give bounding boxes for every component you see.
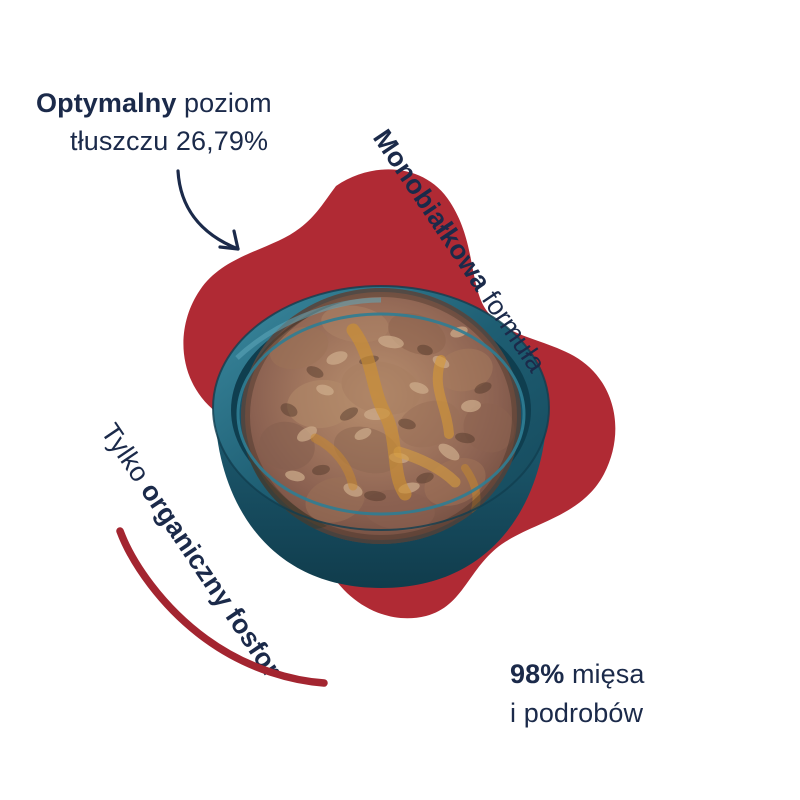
callout-fat-rest: poziom — [176, 88, 271, 118]
callout-meat-line2: i podrobów — [510, 694, 780, 733]
product-infographic: Optymalny poziom tłuszczu 26,79% Monobia… — [0, 0, 800, 800]
callout-fat-line2: tłuszczu 26,79% — [36, 122, 381, 160]
callout-fat-level: Optymalny poziom tłuszczu 26,79% — [36, 84, 381, 161]
callout-meat-content: 98% mięsa i podrobów — [510, 655, 780, 733]
callout-meat-bold: 98% — [510, 659, 564, 689]
callout-fat-bold: Optymalny — [36, 88, 176, 118]
callout-meat-rest: mięsa — [564, 659, 644, 689]
